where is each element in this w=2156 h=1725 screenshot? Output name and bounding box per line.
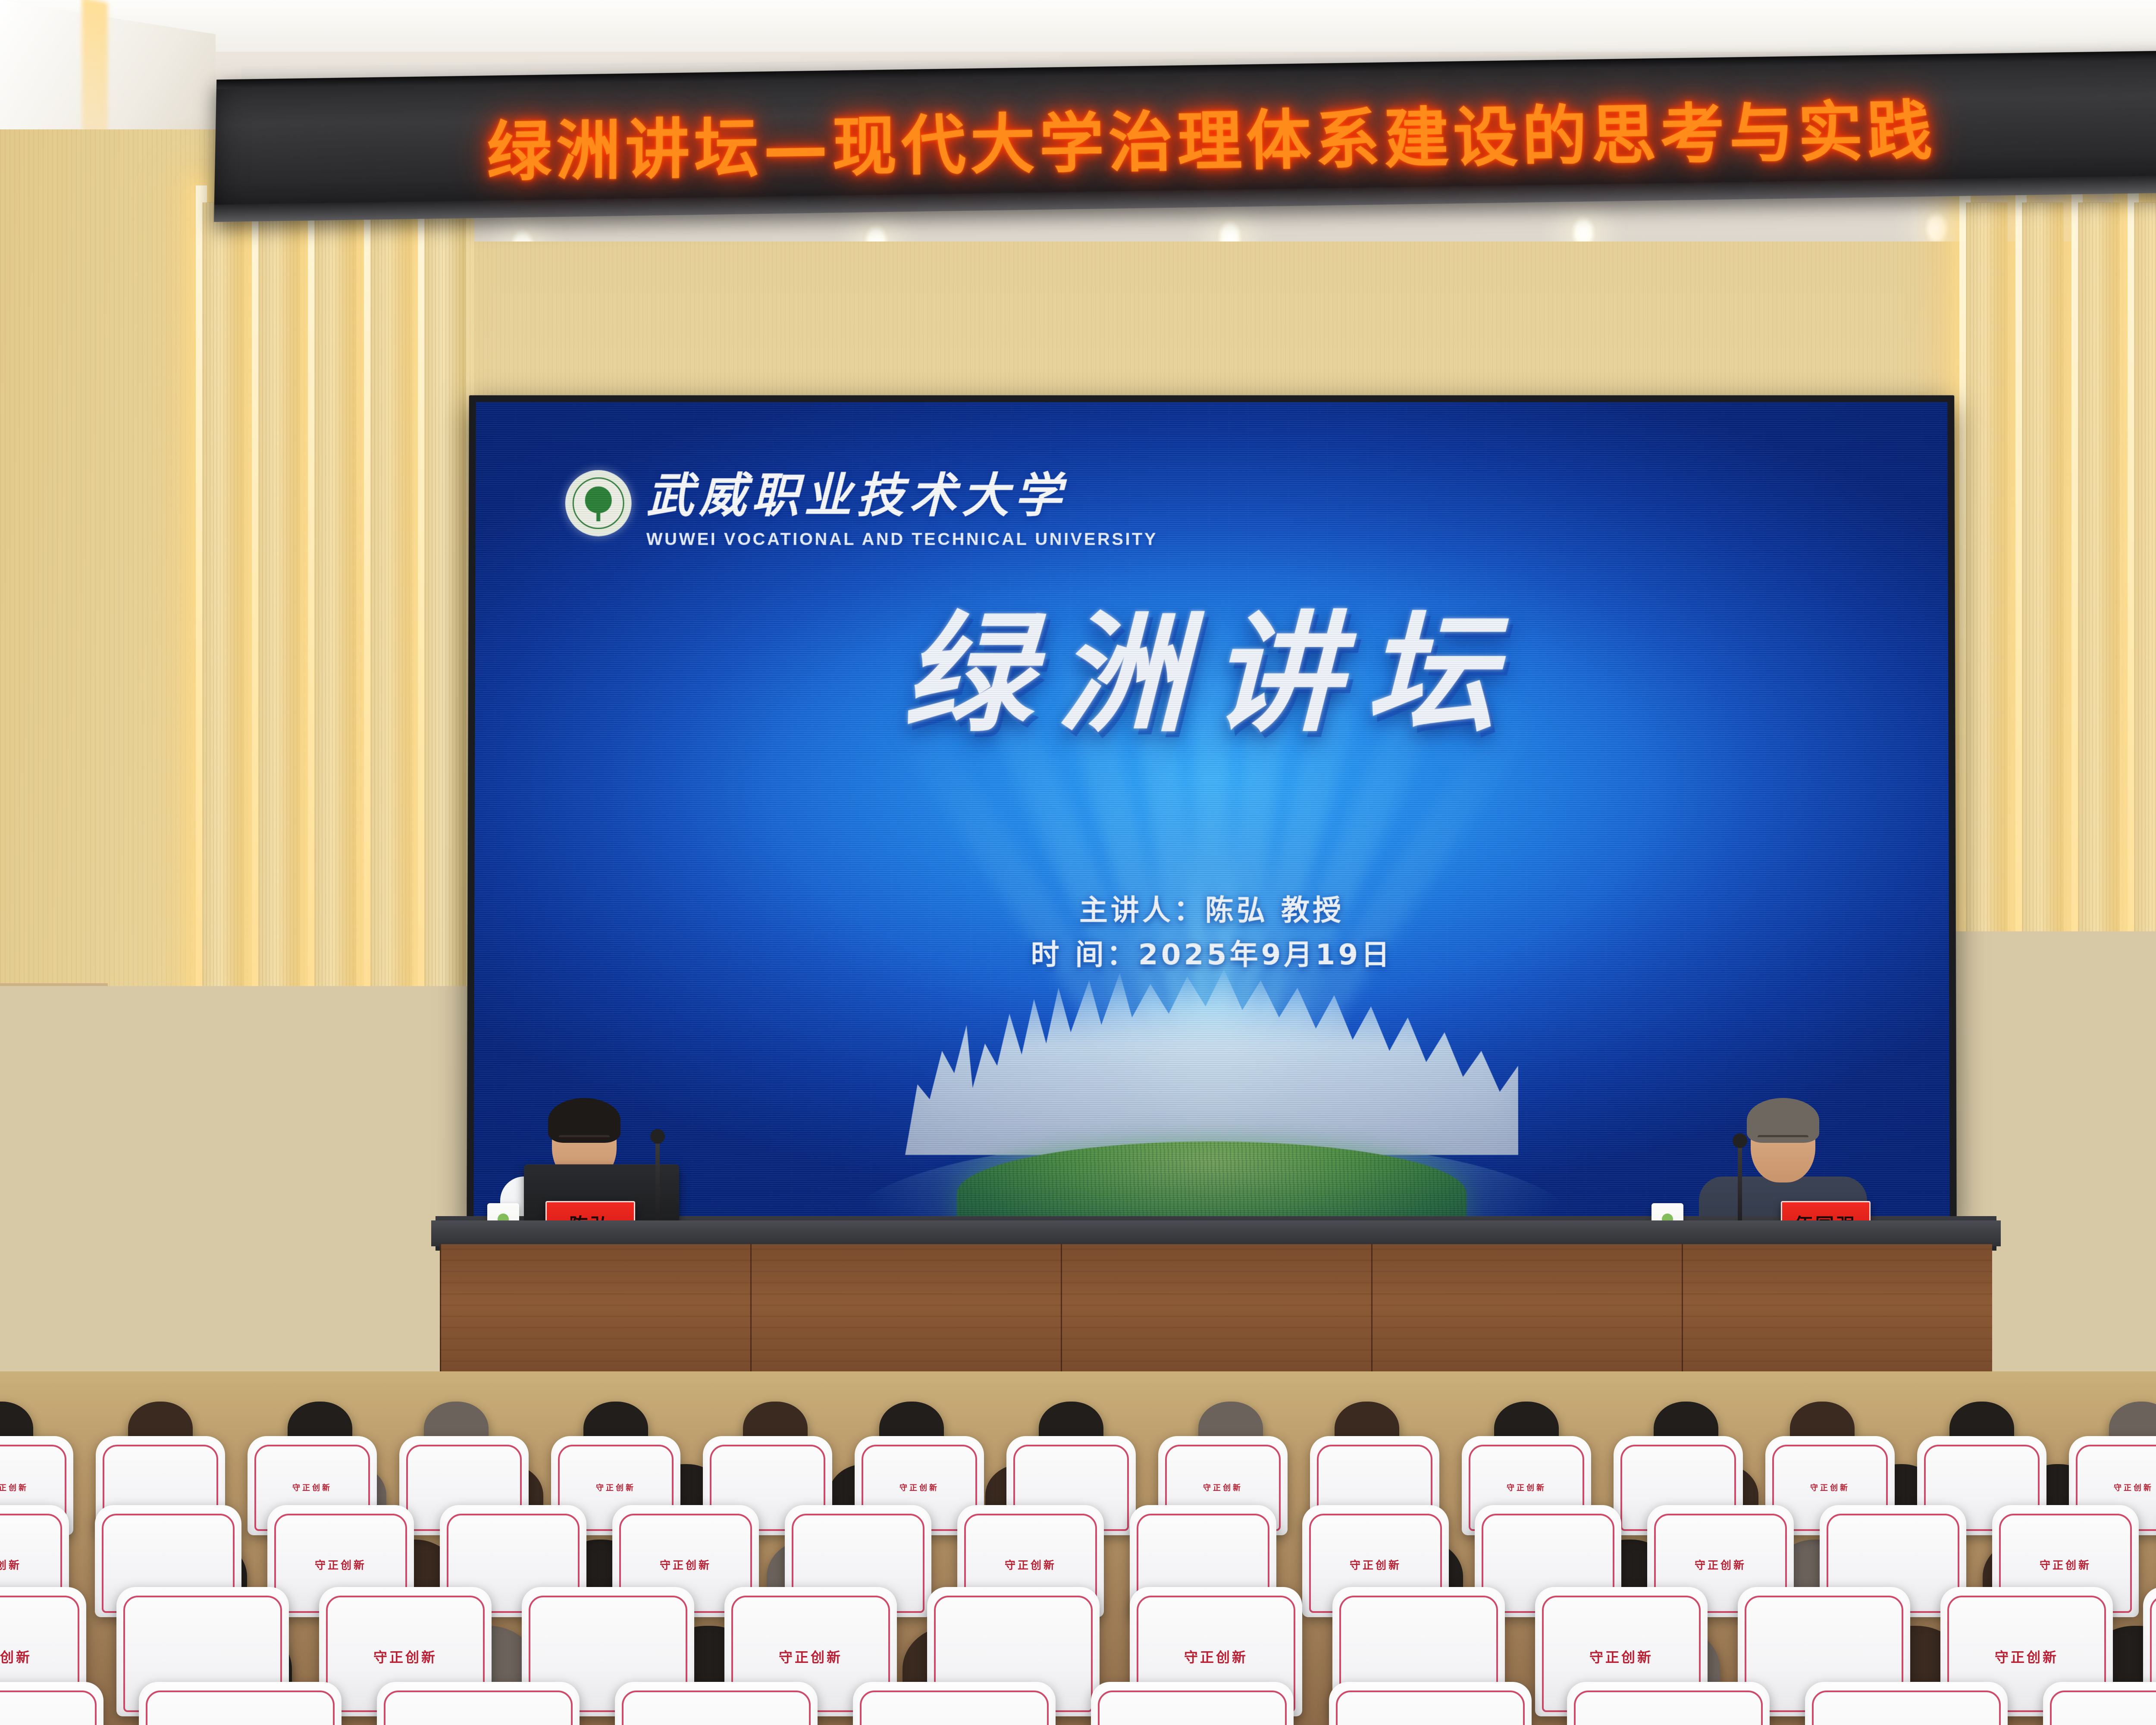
wall-slat-column: [259, 203, 300, 1540]
chair-cover-motto: 守正创新: [1130, 1647, 1302, 1666]
chair-cover-motto: 守正创新: [1462, 1482, 1591, 1493]
chair-cover-motto: 守正创新: [1535, 1647, 1708, 1666]
wall-slat-column: [203, 203, 244, 1540]
audience-chair[interactable]: 守正创新: [1805, 1682, 2008, 1725]
chair-cover-motto: 守正创新: [1158, 1482, 1288, 1493]
led-banner-text: 绿洲讲坛—现代大学治理体系建设的思考与实践: [482, 78, 1942, 194]
chair-cover-motto: 守正创新: [957, 1557, 1104, 1572]
audience-chair[interactable]: 守正创新: [377, 1682, 580, 1725]
led-screen-frame: 武威职业技术大学 WUWEI VOCATIONAL AND TECHNICAL …: [467, 395, 1957, 1228]
auditorium-photo: ITC 绿洲讲坛—现代大学治理体系建设的思考与实践 武威职业技术大学 WUWEI…: [0, 0, 2156, 1725]
led-banner: 绿洲讲坛—现代大学治理体系建设的思考与实践: [214, 50, 2156, 222]
screen-meta-block: 主讲人：陈弘 教授 时 间：2025年9月19日: [474, 888, 1949, 977]
chair-cover-motto: 守正创新: [0, 1647, 86, 1666]
audience-chair[interactable]: 守正创新: [0, 1682, 103, 1725]
chair-cover-motto: 守正创新: [1940, 1647, 2113, 1666]
screen-speaker-line: 主讲人：陈弘 教授: [474, 888, 1949, 932]
wall-slat-column: [2134, 203, 2156, 1540]
speaker-right-head: [1751, 1104, 1815, 1182]
chair-cover-motto: 守正创新: [855, 1482, 984, 1493]
seal-tree-icon: [583, 485, 614, 522]
chair-cover-motto: 守正创新: [612, 1557, 759, 1572]
chair-cover-motto: 守正创新: [319, 1647, 492, 1666]
university-name-cn: 武威职业技术大学: [646, 457, 1158, 526]
led-screen: 武威职业技术大学 WUWEI VOCATIONAL AND TECHNICAL …: [473, 402, 1949, 1221]
chair-cover-motto: 守正创新: [1647, 1557, 1794, 1572]
screen-forum-title: 绿洲讲坛: [475, 570, 1948, 756]
audience-chair[interactable]: [615, 1682, 818, 1725]
chair-cover-motto: 守正创新: [267, 1557, 414, 1572]
university-name-en: WUWEI VOCATIONAL AND TECHNICAL UNIVERSIT…: [646, 530, 1158, 549]
audience-chair[interactable]: 守正创新: [1329, 1682, 1532, 1725]
audience-area: 守正创新守正创新守正创新守正创新守正创新守正创新守正创新守正创新守正创新守正创新…: [0, 1371, 2156, 1725]
wall-slat-column: [2022, 203, 2063, 1540]
audience-chair[interactable]: [1567, 1682, 1770, 1725]
screen-date-line: 时 间：2025年9月19日: [474, 933, 1949, 977]
chair-cover-motto: 守正创新: [1302, 1557, 1449, 1572]
chair-cover-motto: 守正创新: [0, 1557, 69, 1572]
chair-cover-motto: 守正创新: [551, 1482, 680, 1493]
chair-cover-motto: 守正创新: [248, 1482, 377, 1493]
chair-cover-motto: 守正创新: [0, 1482, 73, 1493]
microphone-left: [655, 1138, 660, 1229]
audience-chair[interactable]: 守正创新: [853, 1682, 1056, 1725]
chair-cover-motto: 守正创新: [724, 1647, 897, 1666]
university-seal-icon: [565, 470, 632, 536]
chair-cover-motto: 守正创新: [2069, 1482, 2156, 1493]
ceiling-white-strip: [0, 0, 2156, 52]
wall-slat-column: [371, 203, 412, 1540]
chair-cover-motto: 守正创新: [1765, 1482, 1895, 1493]
audience-chair[interactable]: [1091, 1682, 1294, 1725]
screen-university-logo: 武威职业技术大学 WUWEI VOCATIONAL AND TECHNICAL …: [565, 457, 1158, 549]
chair-cover-motto: 守正创新: [1992, 1557, 2139, 1572]
audience-chair[interactable]: [139, 1682, 342, 1725]
wall-slat-column: [315, 203, 356, 1540]
stage-top-edge: [431, 1220, 2001, 1246]
glasses-icon: [559, 1135, 610, 1145]
microphone-right: [1738, 1143, 1742, 1233]
wall-slat-column: [2078, 203, 2119, 1540]
audience-chair[interactable]: [2043, 1682, 2156, 1725]
glasses-icon: [1758, 1135, 1808, 1145]
